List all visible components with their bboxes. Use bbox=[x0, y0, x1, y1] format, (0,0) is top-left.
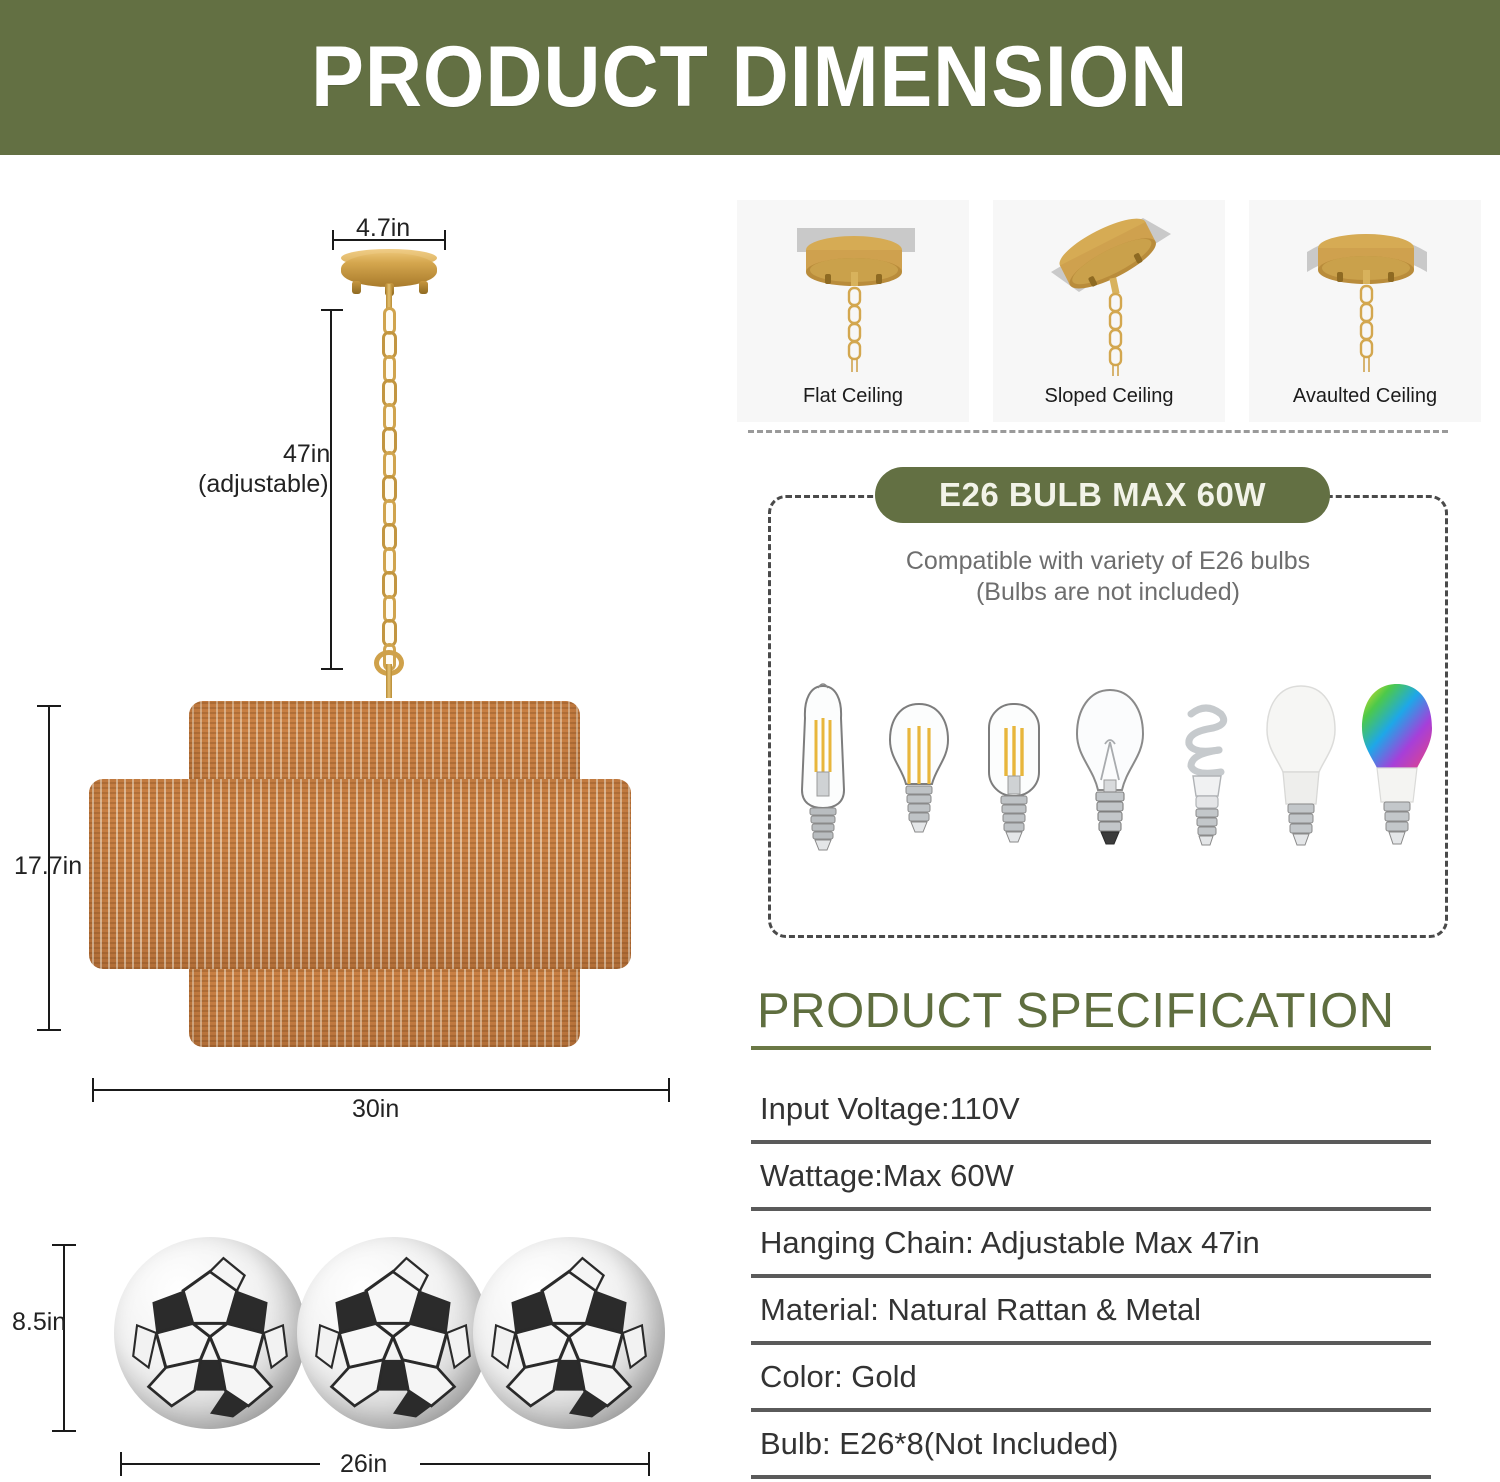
ceiling-card-label: Avaulted Ceiling bbox=[1293, 385, 1437, 408]
spec-row-text: Hanging Chain: Adjustable Max 47in bbox=[760, 1225, 1260, 1261]
ball-height-label: 8.5in bbox=[12, 1308, 66, 1337]
canopy-screw-right bbox=[419, 281, 428, 294]
clear-incandescent-bulb-icon bbox=[1067, 672, 1153, 862]
balls-width-tick-left bbox=[120, 1452, 122, 1476]
chain-length-label: 47in bbox=[283, 440, 330, 469]
ceiling-card-sloped[interactable]: Sloped Ceiling bbox=[993, 200, 1225, 422]
st64-edison-filament-bulb-icon bbox=[780, 672, 866, 862]
sloped-ceiling-mount-icon bbox=[993, 200, 1225, 380]
chain-length-adjustable-label: (adjustable) bbox=[198, 470, 329, 499]
shade-width-label: 30in bbox=[352, 1095, 399, 1124]
balls-width-line-right bbox=[420, 1463, 650, 1465]
rattan-shade-middle-tier bbox=[89, 779, 631, 969]
soccer-ball-1 bbox=[114, 1237, 306, 1429]
bulb-note: Compatible with variety of E26 bulbs (Bu… bbox=[768, 546, 1448, 608]
bulb-t45-tubular bbox=[971, 672, 1057, 862]
chain-length-tick-top bbox=[321, 309, 343, 311]
spec-row-text: Input Voltage:110V bbox=[760, 1091, 1020, 1127]
section-divider bbox=[748, 430, 1448, 433]
ball-height-tick-top bbox=[52, 1244, 76, 1246]
canopy-screw-left bbox=[352, 281, 361, 294]
chain-length-line bbox=[330, 310, 332, 670]
canopy-width-tick-right bbox=[444, 230, 446, 250]
a19-filament-bulb-icon bbox=[876, 672, 962, 862]
spec-row-color: Color: Gold bbox=[751, 1345, 1431, 1412]
spec-row-material: Material: Natural Rattan & Metal bbox=[751, 1278, 1431, 1345]
bulb-note-line-1: Compatible with variety of E26 bulbs bbox=[768, 546, 1448, 577]
shade-height-label: 17.7in bbox=[14, 852, 82, 881]
spec-row-hanging-chain: Hanging Chain: Adjustable Max 47in bbox=[751, 1211, 1431, 1278]
bulb-a19-filament bbox=[876, 672, 962, 862]
specification-title: PRODUCT SPECIFICATION bbox=[757, 983, 1395, 1039]
shade-height-tick-bottom bbox=[37, 1029, 61, 1031]
rgb-smart-bulb-icon bbox=[1354, 672, 1440, 862]
bulb-badge-label: E26 BULB MAX 60W bbox=[939, 476, 1266, 514]
ceiling-card-flat[interactable]: Flat Ceiling bbox=[737, 200, 969, 422]
page-title: PRODUCT DIMENSION bbox=[311, 28, 1188, 127]
soccer-ball-pattern-icon bbox=[297, 1237, 489, 1429]
specification-title-rule bbox=[751, 1046, 1431, 1050]
bulb-cfl-spiral bbox=[1163, 672, 1249, 862]
ball-height-line bbox=[63, 1245, 65, 1431]
product-dimension-infographic: PRODUCT DIMENSION 4.7in 47in ( bbox=[0, 0, 1500, 1482]
soccer-ball-pattern-icon bbox=[114, 1237, 306, 1429]
spec-row-text: Wattage:Max 60W bbox=[760, 1158, 1014, 1194]
vaulted-ceiling-mount-icon bbox=[1249, 200, 1481, 380]
balls-width-line-left bbox=[120, 1463, 320, 1465]
drop-rod bbox=[386, 664, 392, 698]
bulb-led-a19-frosted bbox=[1258, 672, 1344, 862]
flat-ceiling-mount-icon bbox=[737, 200, 969, 380]
soccer-ball-2 bbox=[297, 1237, 489, 1429]
bulb-types-row bbox=[780, 672, 1440, 862]
spec-row-text: Bulb: E26*8(Not Included) bbox=[760, 1426, 1118, 1462]
spec-row-wattage: Wattage:Max 60W bbox=[751, 1144, 1431, 1211]
ceiling-card-vaulted[interactable]: Avaulted Ceiling bbox=[1249, 200, 1481, 422]
specification-list: Input Voltage:110V Wattage:Max 60W Hangi… bbox=[751, 1077, 1431, 1479]
led-a19-frosted-bulb-icon bbox=[1258, 672, 1344, 862]
bulb-badge: E26 BULB MAX 60W bbox=[875, 467, 1330, 523]
ball-height-tick-bottom bbox=[52, 1430, 76, 1432]
cfl-spiral-bulb-icon bbox=[1163, 672, 1249, 862]
hanging-chain bbox=[375, 305, 403, 673]
ceiling-card-label: Flat Ceiling bbox=[803, 385, 903, 408]
bulb-rgb-smart bbox=[1354, 672, 1440, 862]
header-banner: PRODUCT DIMENSION bbox=[0, 0, 1500, 155]
bulb-st64-edison bbox=[780, 672, 866, 862]
chain-length-tick-bottom bbox=[321, 668, 343, 670]
spec-row-bulb: Bulb: E26*8(Not Included) bbox=[751, 1412, 1431, 1479]
ceiling-card-label: Sloped Ceiling bbox=[1045, 385, 1174, 408]
spec-row-input-voltage: Input Voltage:110V bbox=[751, 1077, 1431, 1144]
spec-row-text: Color: Gold bbox=[760, 1359, 917, 1395]
shade-height-tick-top bbox=[37, 705, 61, 707]
bulb-clear-incandescent bbox=[1067, 672, 1153, 862]
t45-tubular-filament-bulb-icon bbox=[971, 672, 1057, 862]
soccer-ball-pattern-icon bbox=[473, 1237, 665, 1429]
spec-row-text: Material: Natural Rattan & Metal bbox=[760, 1292, 1201, 1328]
shade-width-tick-right bbox=[668, 1078, 670, 1102]
shade-width-line bbox=[92, 1089, 670, 1091]
soccer-ball-3 bbox=[473, 1237, 665, 1429]
balls-width-label: 26in bbox=[340, 1450, 387, 1479]
shade-width-tick-left bbox=[92, 1078, 94, 1102]
canopy-width-tick-left bbox=[332, 230, 334, 250]
balls-width-tick-right bbox=[648, 1452, 650, 1476]
canopy-width-line bbox=[332, 239, 446, 241]
bulb-note-line-2: (Bulbs are not included) bbox=[768, 577, 1448, 608]
